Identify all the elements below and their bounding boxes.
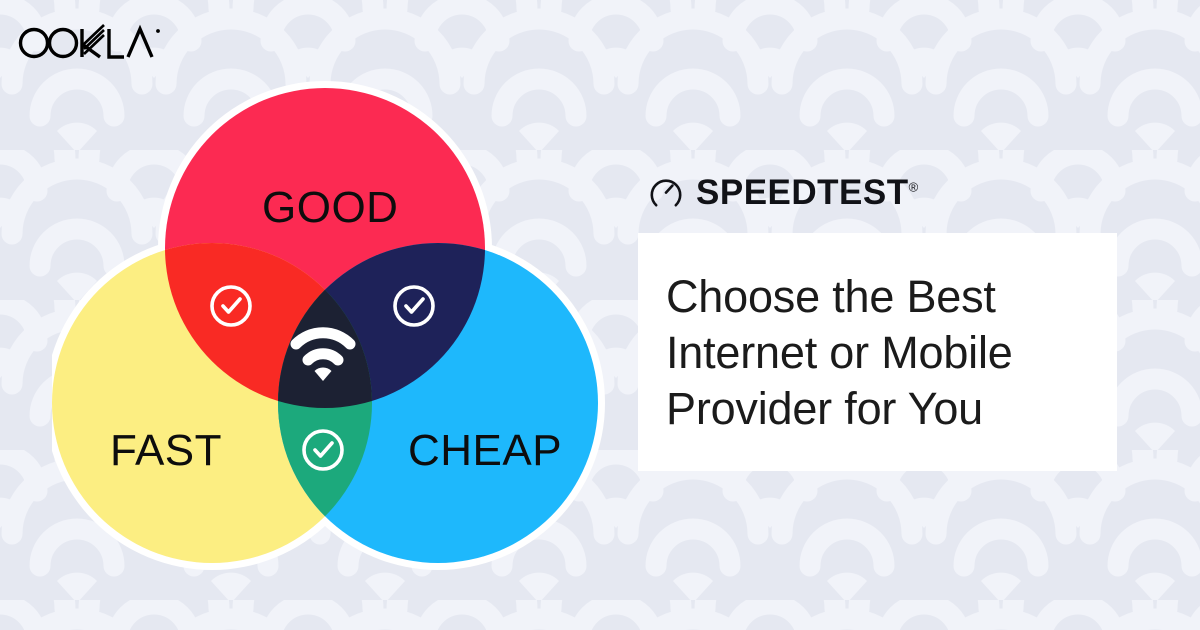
venn-diagram: GOOD FAST CHEAP [52,58,608,578]
headline-line-3: Provider for You [666,383,983,434]
promo-banner: GOOD FAST CHEAP SPEEDTEST® Choose the Be… [0,0,1200,630]
venn-label-fast: FAST [110,426,222,476]
registered-trademark-symbol: ® [909,179,919,194]
headline-card: Choose the BestInternet or MobileProvide… [638,233,1117,471]
speedtest-logo: SPEEDTEST® [638,168,1120,216]
speedometer-icon [648,174,684,210]
page-title: Choose the BestInternet or MobileProvide… [666,269,1087,437]
speedtest-wordmark-text: SPEEDTEST [696,173,909,212]
venn-label-good: GOOD [262,183,398,233]
speedtest-wordmark: SPEEDTEST® [696,175,918,210]
headline-line-2: Internet or Mobile [666,327,1013,378]
right-content-column: SPEEDTEST® Choose the BestInternet or Mo… [638,168,1120,471]
headline-line-1: Choose the Best [666,271,996,322]
ookla-logo [16,18,166,62]
venn-label-cheap: CHEAP [408,426,562,476]
